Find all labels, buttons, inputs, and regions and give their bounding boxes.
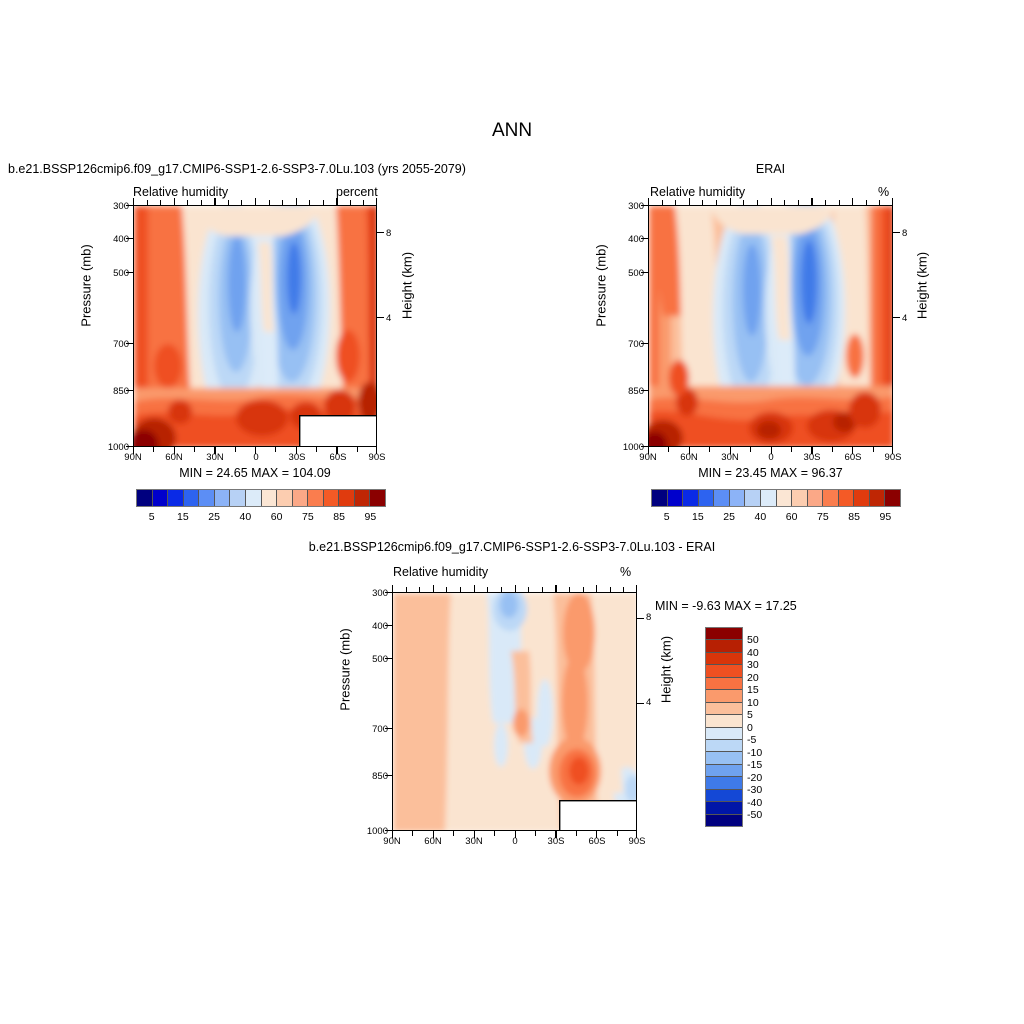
top-right-units-label: % xyxy=(878,185,889,199)
top-left-y2tick-8: 8 xyxy=(386,228,391,239)
top-right-y2label: Height (km) xyxy=(915,236,930,336)
colorbar-cell xyxy=(153,490,169,506)
colorbar-cell xyxy=(199,490,215,506)
top-right-cb-tick-85: 85 xyxy=(839,511,870,523)
top-left-cb-tick-40: 40 xyxy=(230,511,261,523)
colorbar-cell xyxy=(706,777,742,789)
top-right-minmax: MIN = 23.45 MAX = 96.37 xyxy=(648,466,893,480)
colorbar-cell xyxy=(706,802,742,814)
top-left-xtick-60S: 60S xyxy=(326,452,350,463)
bottom-cb-tick-15: 15 xyxy=(747,684,759,696)
colorbar-cell xyxy=(792,490,808,506)
bottom-cb-tick-neg30: -30 xyxy=(747,784,762,796)
top-right-ytick-500: 500 xyxy=(619,268,644,279)
top-right-cb-tick-40: 40 xyxy=(745,511,776,523)
top-left-cb-tick-25: 25 xyxy=(199,511,230,523)
colorbar-cell xyxy=(262,490,278,506)
top-right-ytick-700: 700 xyxy=(619,339,644,350)
bottom-cb-tick-neg50: -50 xyxy=(747,809,762,821)
figure-title: ANN xyxy=(0,120,1024,142)
colorbar-cell xyxy=(730,490,746,506)
bottom-cb-tick-5: 5 xyxy=(747,709,753,721)
bottom-cb-tick-10: 10 xyxy=(747,697,759,709)
colorbar-cell xyxy=(370,490,385,506)
colorbar-cell xyxy=(706,765,742,777)
bottom-cb-tick-neg15: -15 xyxy=(747,759,762,771)
bottom-ytick-300: 300 xyxy=(363,588,388,599)
colorbar-cell xyxy=(706,703,742,715)
colorbar-cell xyxy=(277,490,293,506)
top-right-y2tick-8: 8 xyxy=(902,228,907,239)
bottom-y2tick-8: 8 xyxy=(646,612,651,623)
top-left-cb-tick-75: 75 xyxy=(292,511,323,523)
top-right-cb-tick-60: 60 xyxy=(776,511,807,523)
colorbar-cell xyxy=(706,640,742,652)
top-right-ytick-400: 400 xyxy=(619,234,644,245)
bottom-cb-tick-neg10: -10 xyxy=(747,747,762,759)
colorbar-cell xyxy=(168,490,184,506)
colorbar-cell xyxy=(137,490,153,506)
colorbar-cell xyxy=(714,490,730,506)
bottom-cb-tick-neg5: -5 xyxy=(747,734,756,746)
top-right-axis-ticks xyxy=(648,205,893,447)
bottom-cb-tick-neg40: -40 xyxy=(747,797,762,809)
bottom-variable-label: Relative humidity xyxy=(393,565,488,579)
top-left-case-title: b.e21.BSSP126cmip6.f09_g17.CMIP6-SSP1-2.… xyxy=(8,162,466,176)
top-left-ytick-400: 400 xyxy=(104,234,129,245)
colorbar-cell xyxy=(324,490,340,506)
colorbar-cell xyxy=(699,490,715,506)
colorbar-cell xyxy=(706,678,742,690)
bottom-minmax: MIN = -9.63 MAX = 17.25 xyxy=(655,599,797,613)
colorbar-cell xyxy=(339,490,355,506)
colorbar-cell xyxy=(355,490,371,506)
top-right-y2tick-4: 4 xyxy=(902,313,907,324)
bottom-ytick-500: 500 xyxy=(363,654,388,665)
bottom-axis-ticks xyxy=(392,592,637,831)
bottom-ytick-400: 400 xyxy=(363,621,388,632)
top-left-y2tick-4: 4 xyxy=(386,313,391,324)
colorbar-cell xyxy=(293,490,309,506)
top-right-cb-tick-75: 75 xyxy=(807,511,838,523)
top-left-cb-tick-60: 60 xyxy=(261,511,292,523)
colorbar-cell xyxy=(184,490,200,506)
colorbar-cell xyxy=(808,490,824,506)
top-left-ytick-500: 500 xyxy=(104,268,129,279)
top-right-cb-tick-15: 15 xyxy=(682,511,713,523)
bottom-y2tick-4: 4 xyxy=(646,697,651,708)
bottom-y2label: Height (km) xyxy=(659,620,674,720)
colorbar-cell xyxy=(854,490,870,506)
bottom-units-label: % xyxy=(620,565,631,579)
colorbar-cell xyxy=(230,490,246,506)
top-left-ylabel: Pressure (mb) xyxy=(79,236,94,336)
top-left-cb-tick-85: 85 xyxy=(324,511,355,523)
bottom-cb-tick-30: 30 xyxy=(747,659,759,671)
bottom-ylabel: Pressure (mb) xyxy=(338,620,353,720)
top-left-cb-tick-15: 15 xyxy=(167,511,198,523)
top-left-xtick-30S: 30S xyxy=(285,452,309,463)
colorbar-cell xyxy=(706,653,742,665)
colorbar-cell xyxy=(706,628,742,640)
top-right-case-title: ERAI xyxy=(648,162,893,176)
top-left-ytick-300: 300 xyxy=(104,201,129,212)
top-left-y2label: Height (km) xyxy=(400,236,415,336)
colorbar-cell xyxy=(745,490,761,506)
colorbar-cell xyxy=(870,490,886,506)
colorbar-cell xyxy=(683,490,699,506)
top-right-variable-label: Relative humidity xyxy=(650,185,745,199)
top-right-cb-tick-5: 5 xyxy=(651,511,682,523)
colorbar-cell xyxy=(668,490,684,506)
colorbar-cell xyxy=(652,490,668,506)
top-right-ytick-300: 300 xyxy=(619,201,644,212)
colorbar-cell xyxy=(215,490,231,506)
colorbar-cell xyxy=(885,490,900,506)
bottom-cb-tick-20: 20 xyxy=(747,672,759,684)
colorbar-cell xyxy=(706,728,742,740)
bottom-case-title: b.e21.BSSP126cmip6.f09_g17.CMIP6-SSP1-2.… xyxy=(0,540,1024,554)
colorbar-cell xyxy=(706,740,742,752)
top-right-colorbar[interactable] xyxy=(651,489,901,507)
colorbar-cell xyxy=(706,790,742,802)
colorbar-cell xyxy=(308,490,324,506)
top-right-cb-tick-25: 25 xyxy=(714,511,745,523)
colorbar-cell xyxy=(706,665,742,677)
colorbar-cell xyxy=(839,490,855,506)
top-left-cb-tick-95: 95 xyxy=(355,511,386,523)
colorbar-cell xyxy=(823,490,839,506)
top-left-minmax: MIN = 24.65 MAX = 104.09 xyxy=(133,466,377,480)
bottom-ytick-850: 850 xyxy=(363,771,388,782)
top-left-ytick-700: 700 xyxy=(104,339,129,350)
top-left-colorbar[interactable] xyxy=(136,489,386,507)
bottom-cb-tick-0: 0 xyxy=(747,722,753,734)
bottom-cb-tick-neg20: -20 xyxy=(747,772,762,784)
top-right-ylabel: Pressure (mb) xyxy=(594,236,609,336)
bottom-cb-tick-40: 40 xyxy=(747,647,759,659)
colorbar-cell xyxy=(706,752,742,764)
bottom-ytick-700: 700 xyxy=(363,724,388,735)
top-left-ytick-850: 850 xyxy=(104,386,129,397)
bottom-cb-tick-50: 50 xyxy=(747,634,759,646)
top-left-units-label: percent xyxy=(336,185,378,199)
bottom-colorbar[interactable] xyxy=(705,627,743,827)
top-right-ytick-850: 850 xyxy=(619,386,644,397)
colorbar-cell xyxy=(246,490,262,506)
colorbar-cell xyxy=(706,690,742,702)
top-right-cb-tick-95: 95 xyxy=(870,511,901,523)
colorbar-cell xyxy=(706,715,742,727)
colorbar-cell xyxy=(777,490,793,506)
top-left-cb-tick-5: 5 xyxy=(136,511,167,523)
top-left-axis-ticks xyxy=(133,205,377,447)
colorbar-cell xyxy=(761,490,777,506)
top-left-variable-label: Relative humidity xyxy=(133,185,228,199)
colorbar-cell xyxy=(706,815,742,826)
